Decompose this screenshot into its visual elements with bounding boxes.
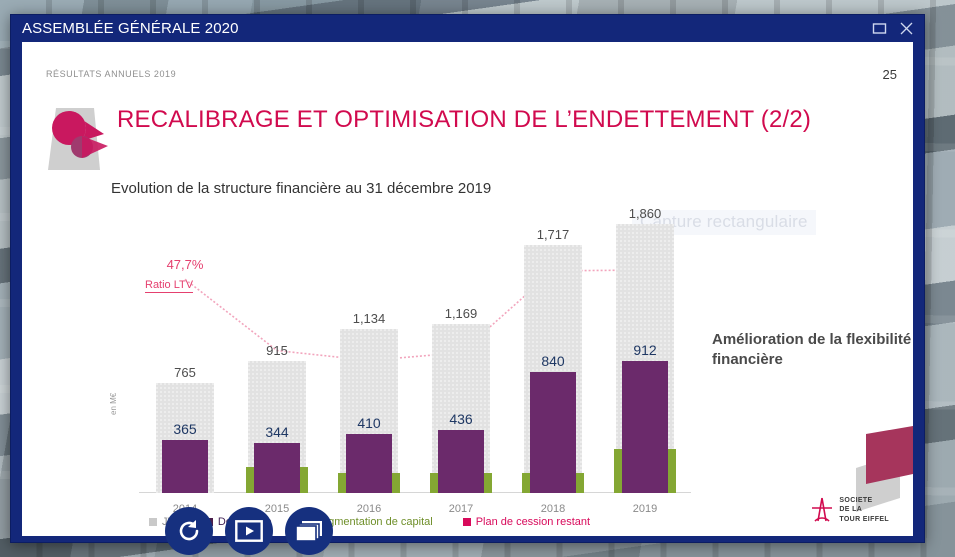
page-title: RECALIBRAGE ET OPTIMISATION DE L’ENDETTE… bbox=[117, 106, 811, 134]
bar-label-dette-nette: 365 bbox=[145, 421, 225, 437]
window-title: ASSEMBLÉE GÉNÉRALE 2020 bbox=[22, 20, 239, 37]
bar-label-jv: 915 bbox=[237, 343, 317, 358]
eiffel-tower-icon bbox=[811, 497, 833, 523]
presentation-icon[interactable] bbox=[225, 507, 273, 555]
bar-dette-nette bbox=[254, 443, 300, 493]
bar-label-dette-nette: 344 bbox=[237, 424, 317, 440]
company-logo-text: SOCIETE DE LA TOUR EIFFEL bbox=[839, 496, 889, 524]
chart-subtitle: Evolution de la structure financière au … bbox=[111, 180, 491, 197]
bar-dette-nette bbox=[346, 434, 392, 493]
bar-label-jv: 1,860 bbox=[605, 206, 685, 221]
slide-canvas: RÉSULTATS ANNUELS 2019 25 RECALIBRAGE ET… bbox=[22, 42, 913, 536]
bar-dette-nette bbox=[162, 440, 208, 493]
bar-dette-nette bbox=[622, 361, 668, 493]
company-logo: SOCIETE DE LA TOUR EIFFEL bbox=[811, 496, 889, 524]
slide-kicker: RÉSULTATS ANNUELS 2019 bbox=[46, 69, 176, 79]
bar-dette-nette bbox=[530, 372, 576, 493]
legend-label: Plan de cession restant bbox=[476, 516, 590, 528]
y-axis-label: en M€ bbox=[109, 393, 118, 415]
x-axis-tick: 2019 bbox=[605, 503, 685, 515]
brand-mark-icon bbox=[42, 102, 114, 177]
bar-dette-nette bbox=[438, 430, 484, 493]
floating-toolbar bbox=[165, 507, 333, 555]
slide-page-number: 25 bbox=[883, 67, 897, 82]
legend-swatch bbox=[149, 518, 157, 526]
bar-label-jv: 765 bbox=[145, 365, 225, 380]
bar-label-dette-nette: 840 bbox=[513, 353, 593, 369]
x-axis-tick: 2017 bbox=[421, 503, 501, 515]
bar-label-jv: 1,134 bbox=[329, 311, 409, 326]
bar-label-jv: 1,169 bbox=[421, 306, 501, 321]
bar-label-dette-nette: 912 bbox=[605, 342, 685, 358]
window-controls bbox=[868, 18, 924, 38]
ltv-value-label: 47,7% bbox=[145, 257, 225, 272]
app-window: ASSEMBLÉE GÉNÉRALE 2020 RÉSULTATS ANNUEL… bbox=[10, 14, 925, 543]
windows-icon[interactable] bbox=[285, 507, 333, 555]
window-titlebar[interactable]: ASSEMBLÉE GÉNÉRALE 2020 bbox=[11, 15, 924, 41]
close-icon[interactable] bbox=[895, 18, 917, 38]
bar-label-dette-nette: 410 bbox=[329, 415, 409, 431]
x-axis-tick: 2016 bbox=[329, 503, 409, 515]
rotate-icon[interactable] bbox=[165, 507, 213, 555]
bar-label-jv: 1,717 bbox=[513, 227, 593, 242]
financial-structure-chart: en M€ 47,7%37,6%36,2%37,3%48,9%49,0% Rat… bbox=[111, 197, 691, 527]
side-note: Amélioration de la flexibilité financièr… bbox=[712, 330, 912, 371]
x-axis-tick: 2018 bbox=[513, 503, 593, 515]
maximize-icon[interactable] bbox=[868, 18, 890, 38]
legend-swatch bbox=[463, 518, 471, 526]
legend-item[interactable]: Plan de cession restant bbox=[463, 516, 590, 528]
ltv-series-name: Ratio LTV bbox=[145, 279, 193, 293]
bar-label-dette-nette: 436 bbox=[421, 411, 501, 427]
